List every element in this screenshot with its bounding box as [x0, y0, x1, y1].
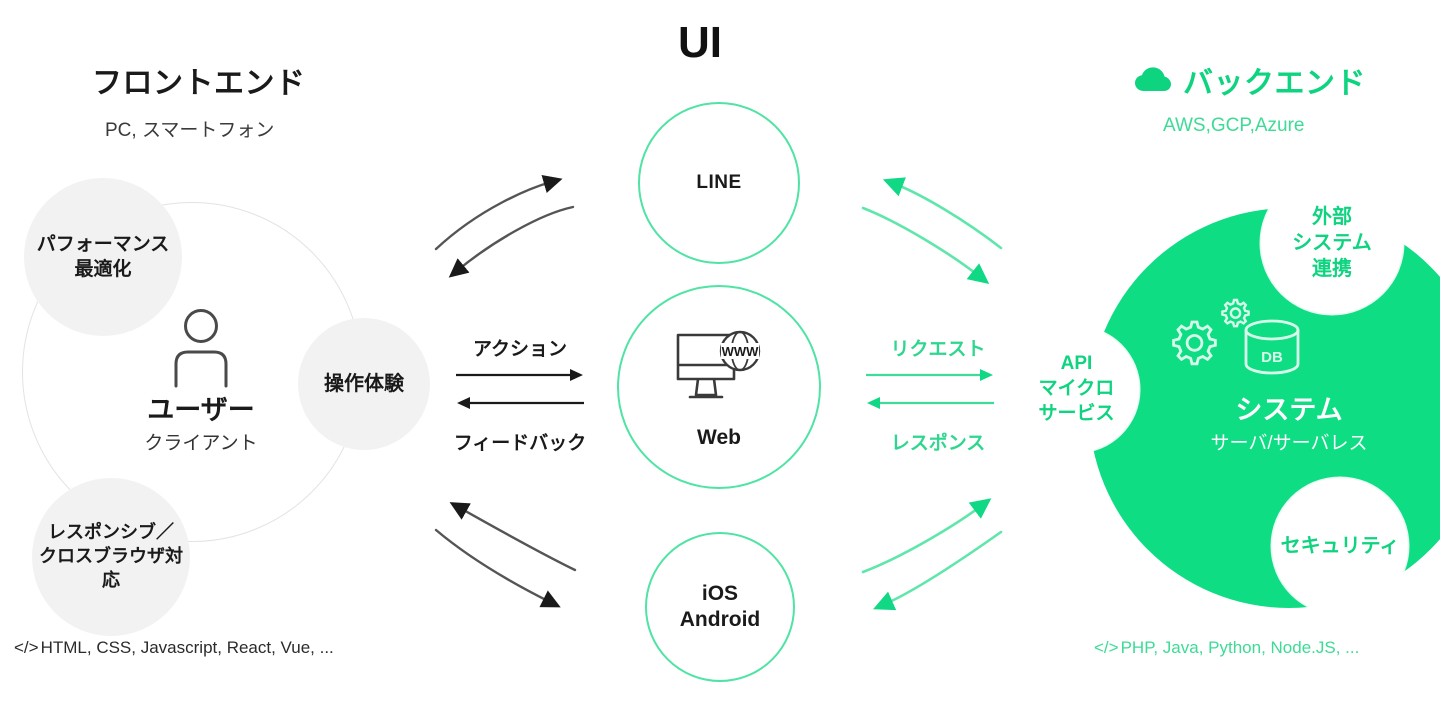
bubble-api-microservice-label: API マイクロ サービス: [1038, 352, 1114, 426]
bubble-performance-label: パフォーマンス 最適化: [37, 232, 170, 282]
code-bracket-icon-backend: </>: [1094, 638, 1119, 658]
ui-circle-web-label: Web: [697, 425, 741, 451]
bubble-ux-label: 操作体験: [324, 371, 404, 397]
frontend-tech-line: </> HTML, CSS, Javascript, React, Vue, .…: [14, 638, 334, 658]
ui-backend-curved-arrows-top: [855, 150, 1035, 300]
frontend-ui-curved-arrows-bottom: [420, 480, 620, 630]
feedback-label: フィードバック: [440, 428, 600, 455]
bubble-api-microservice[interactable]: API マイクロ サービス: [1014, 327, 1139, 452]
svg-text:DB: DB: [1261, 349, 1283, 366]
monitor-www-icon: WWW: [670, 327, 768, 403]
bubble-responsive[interactable]: レスポンシブ／ クロスブラウザ対応: [32, 478, 190, 636]
ui-backend-curved-arrows-bottom: [855, 480, 1035, 630]
system-label: システム: [1139, 388, 1439, 427]
ui-circle-line-label: LINE: [696, 171, 741, 195]
bubble-ux[interactable]: 操作体験: [298, 318, 430, 450]
user-sublabel: クライアント: [101, 428, 301, 455]
backend-heading-row: バックエンド: [1135, 58, 1366, 102]
ui-circle-web[interactable]: WWW Web: [617, 285, 821, 489]
request-arrow-right: [866, 368, 994, 382]
frontend-ui-curved-arrows-top: [420, 150, 620, 300]
ui-circle-mobile[interactable]: iOS Android: [645, 532, 795, 682]
feedback-arrow-left: [456, 396, 584, 410]
svg-text:WWW: WWW: [722, 344, 760, 359]
system-sublabel: サーバ/サーバレス: [1139, 428, 1439, 455]
ui-circle-line[interactable]: LINE: [638, 102, 800, 264]
response-arrow-left: [866, 396, 994, 410]
frontend-heading: フロントエンド: [92, 58, 306, 102]
action-arrow-right: [456, 368, 584, 382]
response-label: レスポンス: [858, 428, 1018, 455]
user-label: ユーザー: [101, 388, 301, 427]
bubble-security-label: セキュリティ: [1281, 533, 1400, 559]
backend-heading: バックエンド: [1183, 58, 1366, 102]
frontend-tech-stack: HTML, CSS, Javascript, React, Vue, ...: [41, 638, 334, 658]
backend-subheading: AWS,GCP,Azure: [1163, 115, 1305, 137]
ui-heading: UI: [678, 18, 722, 68]
system-icons: DB: [1172, 298, 1312, 386]
request-label: リクエスト: [858, 334, 1018, 361]
bubble-responsive-label: レスポンシブ／ クロスブラウザ対応: [32, 521, 190, 592]
cloud-icon: [1135, 67, 1171, 93]
bubble-external-system[interactable]: 外部 システム 連携: [1261, 172, 1403, 314]
code-bracket-icon: </>: [14, 638, 39, 658]
diagram-canvas: フロントエンド PC, スマートフォン ユーザー クライアント パフォーマンス …: [0, 0, 1440, 724]
bubble-security[interactable]: セキュリティ: [1272, 478, 1408, 614]
bubble-performance[interactable]: パフォーマンス 最適化: [24, 178, 182, 336]
backend-tech-line: </> PHP, Java, Python, Node.JS, ...: [1094, 638, 1359, 658]
bubble-external-system-label: 外部 システム 連携: [1292, 204, 1371, 282]
backend-tech-stack: PHP, Java, Python, Node.JS, ...: [1121, 638, 1360, 658]
frontend-subheading: PC, スマートフォン: [105, 115, 274, 142]
ui-circle-mobile-label: iOS Android: [680, 581, 760, 634]
ui-heading-text: UI: [678, 18, 722, 67]
action-label: アクション: [440, 334, 600, 361]
person-icon: [170, 308, 232, 386]
